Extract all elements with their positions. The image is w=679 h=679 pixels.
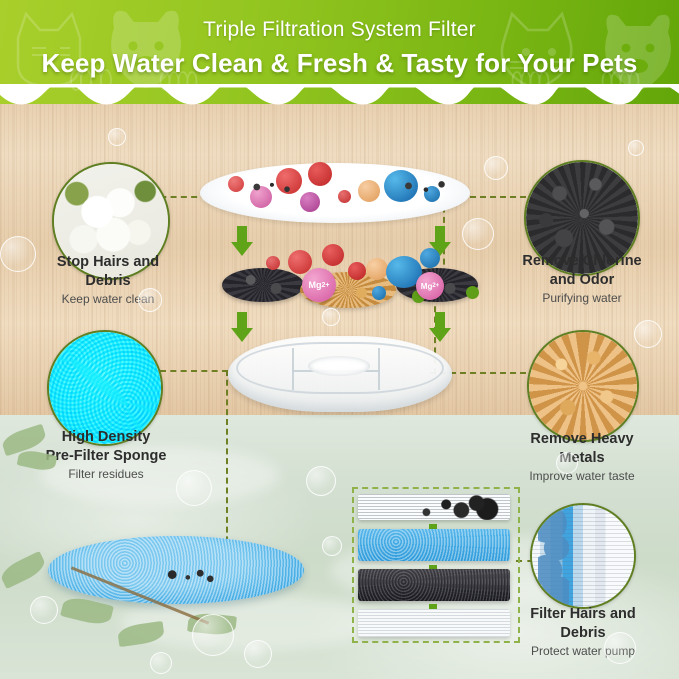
flow-arrow-down-icon xyxy=(230,226,254,261)
trapped-debris xyxy=(161,569,217,583)
layered-cross-section-swatch-icon xyxy=(532,505,634,607)
caption-subtitle: Purifying water xyxy=(489,291,675,305)
layer-slab-blue-sponge xyxy=(358,529,510,561)
connector-line xyxy=(226,370,228,562)
bubble-decor xyxy=(30,596,58,624)
bubble-decor xyxy=(108,128,126,146)
caption-title-line2: Debris xyxy=(85,273,130,289)
germ-particle xyxy=(420,248,440,268)
bubble-decor xyxy=(556,452,578,474)
wave-divider xyxy=(0,84,679,112)
caption-title-line1: Stop Hairs and xyxy=(57,254,159,270)
bubble-decor xyxy=(462,218,494,250)
caption-title-line2: Debris xyxy=(560,625,605,641)
bubble-decor xyxy=(634,320,662,348)
callout-circle-remove-heavy-metals[interactable] xyxy=(527,330,639,442)
activated-carbon-bed xyxy=(222,268,304,302)
germ-particle xyxy=(338,190,351,203)
tray-divider xyxy=(378,348,380,390)
bubble-decor xyxy=(322,308,340,326)
caption-title-line1: Filter Hairs and xyxy=(530,606,636,622)
ion-exchange-resin-swatch-icon xyxy=(529,332,637,440)
magnesium-ion-label: Mg2+ xyxy=(416,272,444,300)
ion-charge: 2+ xyxy=(322,282,330,289)
flow-arrow-down-icon xyxy=(230,312,254,347)
bubble-decor xyxy=(150,652,172,674)
bubble-decor xyxy=(176,470,212,506)
germ-particle xyxy=(366,258,388,280)
ion-charge: 2+ xyxy=(432,283,439,289)
blue-pre-filter-sponge-disc xyxy=(48,536,304,604)
sponge-pore-texture xyxy=(538,505,569,607)
germ-particle xyxy=(358,180,380,202)
bubble-decor xyxy=(138,288,162,312)
caption-subtitle: Keep water clean xyxy=(18,292,198,306)
germ-particle xyxy=(266,256,280,270)
germ-particle xyxy=(372,286,386,300)
caption-stop-hairs: Stop Hairs and Debris Keep water clean xyxy=(18,253,198,306)
product-infographic: Triple Filtration System Filter Keep Wat… xyxy=(0,0,679,679)
header-title-secondary: Keep Water Clean & Fresh & Tasty for You… xyxy=(0,48,679,79)
caption-remove-heavy-metals: Remove Heavy Metals Improve water taste xyxy=(490,430,674,483)
caption-title-line2: and Odor xyxy=(550,272,614,288)
caption-title-line1: Remove Chlorine xyxy=(522,253,641,269)
caption-title-line1: High Density xyxy=(62,429,151,445)
germ-particle xyxy=(322,244,344,266)
filter-tray-layer xyxy=(228,336,452,412)
caption-title-line2: Pre-Filter Sponge xyxy=(46,448,167,464)
caption-title: Remove Chlorine and Odor xyxy=(489,252,675,289)
layer-slab-activated-carbon xyxy=(358,569,510,601)
hair-debris-cluster xyxy=(246,176,300,198)
trapped-debris xyxy=(358,494,510,520)
callout-circle-filter-hairs[interactable] xyxy=(530,503,636,609)
germ-particle xyxy=(348,262,366,280)
caption-title: Stop Hairs and Debris xyxy=(18,253,198,290)
caption-title: Remove Heavy Metals xyxy=(490,430,674,467)
caption-subtitle: Improve water taste xyxy=(490,469,674,483)
layer-slab-mesh-bottom xyxy=(358,609,510,637)
bubble-decor xyxy=(322,536,342,556)
bubble-decor xyxy=(306,466,336,496)
germ-particle xyxy=(228,176,244,192)
germ-particle xyxy=(466,286,479,299)
layer-slab-mesh-top xyxy=(358,494,510,520)
bubble-decor xyxy=(604,632,636,664)
bubble-decor xyxy=(628,140,644,156)
bubble-decor xyxy=(484,156,508,180)
ion-text: Mg xyxy=(309,280,322,290)
caption-title-line1: Remove Heavy xyxy=(530,431,633,447)
bubble-decor xyxy=(244,640,272,668)
caption-subtitle: Protect water pump xyxy=(492,644,674,658)
caption-remove-chlorine: Remove Chlorine and Odor Purifying water xyxy=(489,252,675,305)
tray-center-well xyxy=(308,356,370,376)
germ-particle xyxy=(300,192,320,212)
ion-text: Mg xyxy=(421,282,433,291)
header-title-primary: Triple Filtration System Filter xyxy=(0,18,679,42)
tray-divider xyxy=(292,348,294,390)
hair-debris-cluster xyxy=(394,176,452,198)
flow-arrow-down-icon xyxy=(428,312,452,347)
germ-particle xyxy=(308,162,332,186)
magnesium-ion-label: Mg2+ xyxy=(302,268,336,302)
bubble-decor xyxy=(0,236,36,272)
connector-line xyxy=(160,370,228,372)
bubble-decor xyxy=(192,614,234,656)
